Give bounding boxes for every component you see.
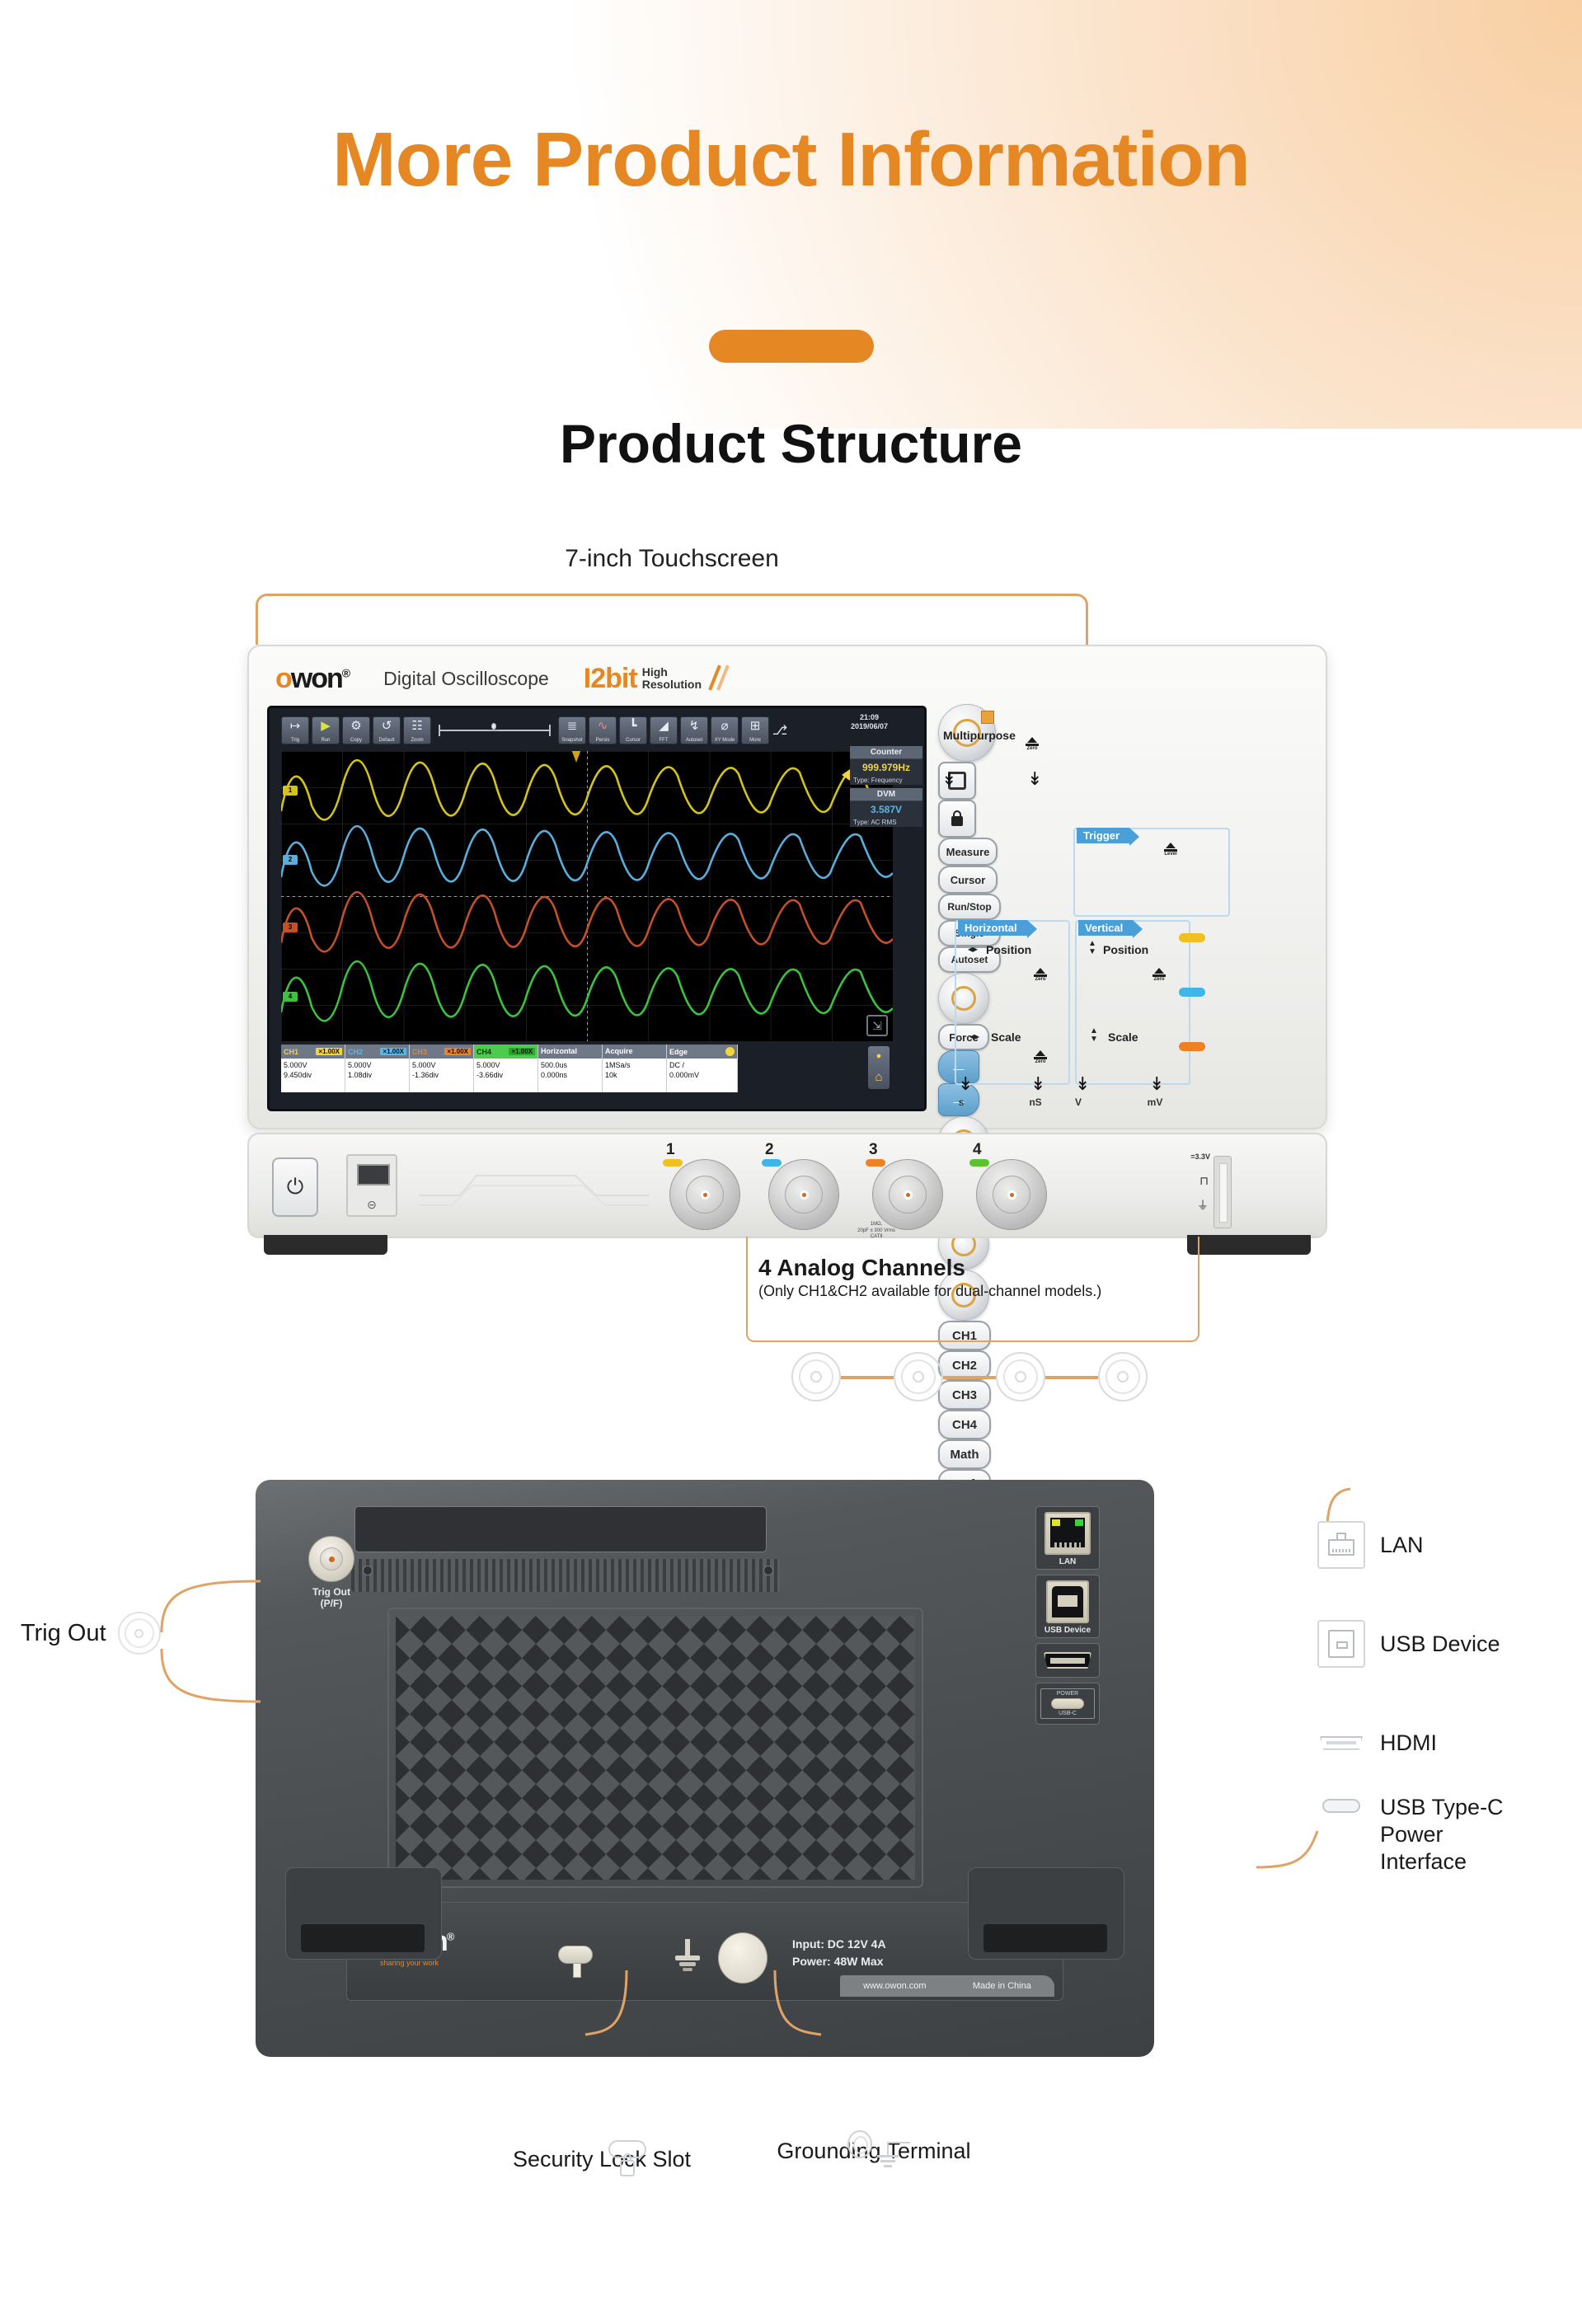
lock-button[interactable]: [938, 800, 976, 838]
square-wave-icon: ⊓: [1199, 1174, 1209, 1188]
bnc-outline-icon-2: [894, 1352, 943, 1401]
counter-caret-icon: [842, 769, 850, 781]
usb-host-port[interactable]: ⊝: [346, 1154, 397, 1217]
ch1-led: [1179, 933, 1205, 942]
usb-b-connector-graphic: [1046, 1580, 1089, 1623]
status-cell-header: CH1 ×1.00X: [281, 1045, 345, 1059]
lan-annotation-label: LAN: [1380, 1532, 1424, 1559]
vertical-position-label: Position: [1103, 943, 1148, 956]
hdmi-annotation: HDMI: [1317, 1719, 1437, 1767]
bnc-number-1: 1: [666, 1141, 675, 1159]
lan-annotation: LAN: [1317, 1521, 1424, 1569]
vertical-position-arrows-icon: ▲▼: [1088, 940, 1096, 956]
brand-bar: owon® Digital Oscilloscope I2bit HighRes…: [264, 656, 1314, 701]
ch2-led: [1179, 988, 1205, 997]
channel-marker-ch1[interactable]: 1: [283, 786, 298, 796]
decorative-trace-pattern: [411, 1154, 658, 1217]
toolbar-button-fft[interactable]: ◢ FFT: [650, 716, 678, 744]
toolbar-button-xy-mode[interactable]: ⌀ XY Mode: [711, 716, 739, 744]
accent-slash-icon: [707, 664, 731, 693]
h-scale-unit-right: nS: [1027, 1096, 1044, 1108]
compensation-slot: [1213, 1156, 1232, 1228]
bnc-icon-row: [791, 1352, 1146, 1410]
h-scale-unit-left: s: [955, 1096, 968, 1108]
cursor-icon: ┗: [620, 720, 646, 732]
status-cell-body: 5.000V -1.36div: [410, 1059, 473, 1082]
slider-cap-right: [549, 725, 551, 736]
bnc-led-2: [762, 1159, 782, 1167]
power-icon: ⏻: [287, 1174, 304, 1200]
slider-track: [439, 730, 550, 731]
multipurpose-right-arrow-icon: ↡: [1027, 770, 1042, 788]
resolution-note: HighResolution: [642, 666, 702, 690]
toolbar-button-persis[interactable]: ∿ Persis: [589, 716, 617, 744]
bnc-led-3: [866, 1159, 885, 1167]
rear-view: Trig Out(P/F) LAN USB Device: [256, 1480, 1154, 2106]
usb-c-frame: POWER USB-C: [1040, 1688, 1095, 1719]
horizontal-position-label: Position: [986, 943, 1031, 956]
bnc-connector-zone: 1 2 3 4 1MΩ, 20pF ± 300 Vrms CATⅡ: [661, 1141, 1238, 1233]
multipurpose-zero-icon: Zero: [1024, 737, 1040, 751]
dvm-value: 3.587V: [850, 801, 922, 818]
hdmi-annotation-label: HDMI: [1380, 1730, 1437, 1757]
status-cell-ch3[interactable]: CH3 ×1.00X 5.000V -1.36div: [410, 1045, 474, 1092]
status-cell-body: 5.000V -3.66div: [474, 1059, 538, 1082]
grounding-label: Grounding Terminal: [750, 2139, 998, 2164]
usb-port-slot: [357, 1164, 390, 1185]
page-title: More Product Information: [0, 115, 1582, 204]
trig-out-port-caption: Trig Out(P/F): [300, 1586, 363, 1610]
trig-icon: ↦: [282, 720, 308, 732]
counter-value: 999.979Hz: [850, 759, 922, 776]
analog-channels-title: 4 Analog Channels: [758, 1255, 1204, 1281]
touchscreen-callout-label: 7-inch Touchscreen: [552, 545, 792, 573]
usb-b-icon: [1317, 1620, 1365, 1668]
slider-knob[interactable]: [491, 723, 496, 730]
owon-logo: owon®: [275, 663, 349, 695]
ch4-button[interactable]: CH4: [938, 1410, 991, 1439]
cursor-button[interactable]: Cursor: [938, 866, 998, 894]
measurement-panel: Counter 999.979Hz Type: Frequency DVM 3.…: [850, 746, 922, 827]
h-scale-down-right-icon: ↡: [1030, 1075, 1045, 1093]
front-base-panel: ⏻ ⊝ 1 2 3: [247, 1133, 1327, 1238]
horizontal-scale-zero-icon: Zero: [1032, 1050, 1049, 1064]
waveform-grid[interactable]: 1 2 3 4 ⇲: [281, 751, 893, 1041]
slider-cap-left: [439, 725, 440, 736]
toolbar-button-snapshot[interactable]: ≣ Snapshot: [558, 716, 586, 744]
horizontal-section-label: Horizontal: [958, 920, 1027, 936]
toolbar-button-default[interactable]: ↺ Default: [373, 716, 401, 744]
rear-foot-right: [968, 1867, 1124, 1960]
math-button[interactable]: Math: [938, 1439, 991, 1469]
security-lock-label: Security Lock Slot: [495, 2147, 709, 2172]
oscilloscope-front-body: owon® Digital Oscilloscope I2bit HighRes…: [247, 645, 1327, 1129]
screen-status-bar: CH1 ×1.00X 5.000V 9.450div CH2 ×1.00X 5.…: [281, 1045, 893, 1092]
status-cell-body: 5.000V 9.450div: [281, 1059, 345, 1082]
v-scale-unit-left: V: [1072, 1096, 1085, 1108]
counter-header: Counter: [850, 746, 922, 759]
status-cell-ch1[interactable]: CH1 ×1.00X 5.000V 9.450div: [281, 1045, 345, 1092]
bnc-outline-icon-3: [996, 1352, 1045, 1401]
horizontal-scale-label: Scale: [991, 1031, 1021, 1044]
measure-button[interactable]: Measure: [938, 838, 998, 866]
trigger-status-dot: [725, 1047, 735, 1056]
grounding-leader-line: [717, 1970, 899, 2102]
bnc-outline-icon-4: [1098, 1352, 1148, 1401]
oscilloscope-rear-body: Trig Out(P/F) LAN USB Device: [256, 1480, 1154, 2057]
rear-port-column: LAN USB Device POWER USB-C: [1035, 1506, 1110, 1730]
vertical-scale-label: Scale: [1108, 1031, 1138, 1044]
rear-screw-left: [363, 1566, 373, 1575]
horizontal-position-arrows-icon: ◂▸: [968, 943, 978, 955]
status-cell-acquire[interactable]: Acquire 1MSa/s 10k: [603, 1045, 667, 1092]
multipurpose-left-arrow-icon: ↡: [941, 770, 956, 788]
status-cell-header: CH4 ×1.00X: [474, 1045, 538, 1059]
play-icon: ▶: [312, 720, 339, 732]
bit-badge: I2bit: [584, 663, 637, 695]
horizontal-scale-arrows-icon: ◂▸: [969, 1031, 979, 1042]
channel-marker-ch4[interactable]: 4: [283, 992, 298, 1002]
home-button[interactable]: ● ⌂: [868, 1046, 890, 1089]
toolbar-button-more[interactable]: ⊞ More: [741, 716, 769, 744]
bnc-led-4: [969, 1159, 989, 1167]
trig-out-bnc-connector[interactable]: [308, 1536, 354, 1582]
bnc-connector-1[interactable]: [669, 1159, 740, 1230]
rear-ventilation-mesh: [396, 1616, 915, 1880]
lan-connector-graphic: [1044, 1512, 1091, 1555]
bnc-outline-icon-1: [791, 1352, 841, 1401]
channel-marker-ch3[interactable]: 3: [283, 923, 298, 932]
toolbar-button-autoset[interactable]: ↯ Autoset: [680, 716, 708, 744]
origin-label: Made in China: [973, 1981, 1031, 1991]
compensation-voltage-label: =3.3V: [1190, 1153, 1210, 1161]
screen-toolbar: ↦ Trig ▶ Run ⚙ Copy ↺ Default ☷ Zoom: [281, 715, 893, 746]
lock-icon: [949, 810, 965, 828]
ground-icon: ⏚: [1197, 1197, 1209, 1214]
counter-type: Type: Frequency: [850, 776, 922, 785]
section-title: Product Structure: [0, 412, 1582, 475]
status-cell-ch2[interactable]: CH2 ×1.00X 5.000V 1.08div: [345, 1045, 410, 1092]
trigger-section-label: Trigger: [1077, 828, 1129, 843]
zoom-icon: ☷: [404, 720, 430, 732]
bnc-link-1: [841, 1376, 894, 1379]
lock-slot-leader-line: [511, 1970, 692, 2102]
divider-pill: [709, 330, 874, 363]
copy-icon: ⚙: [343, 720, 369, 732]
rear-bottom-plate: owon® sharing your work Input: DC 12V 4A…: [346, 1902, 1063, 2001]
persist-icon: ∿: [589, 720, 616, 732]
status-bar-right-area: ● ⌂: [738, 1045, 893, 1092]
waveform-ch4: [281, 942, 893, 1033]
product-subtitle: Digital Oscilloscope: [383, 668, 549, 690]
lan-icon: [1317, 1521, 1365, 1569]
usb-device-annotation-label: USB Device: [1380, 1631, 1500, 1658]
trig-out-port[interactable]: Trig Out(P/F): [300, 1536, 363, 1610]
power-rating-text: Input: DC 12V 4A Power: 48W Max: [792, 1936, 886, 1970]
grounding-annotation: Grounding Terminal: [750, 2127, 998, 2164]
status-cell-body: DC / 0.000mV: [667, 1059, 737, 1082]
bnc-link-3: [1045, 1376, 1098, 1379]
toolbar-button-trig[interactable]: ↦ Trig: [281, 716, 309, 744]
front-foot-right: [1187, 1235, 1311, 1255]
dvm-type: Type: AC RMS: [850, 818, 922, 827]
more-icon: ⊞: [742, 720, 768, 732]
security-lock-annotation: Security Lock Slot: [495, 2135, 709, 2172]
status-cell-edge[interactable]: Edge DC / 0.000mV: [667, 1045, 738, 1092]
toolbar-button-zoom[interactable]: ☷ Zoom: [403, 716, 431, 744]
usb-icon: ⊝: [367, 1198, 377, 1212]
front-view: 7-inch Touchscreen owon® Digital Oscillo…: [247, 627, 1327, 1245]
status-cell-header: CH2 ×1.00X: [345, 1045, 409, 1059]
status-cell-ch4[interactable]: CH4 ×1.00X 5.000V -3.66div: [474, 1045, 538, 1092]
fft-icon: ◢: [650, 720, 677, 732]
rear-foot-left: [285, 1867, 442, 1960]
compensation-output[interactable]: =3.3V ⊓ ⏚: [1176, 1153, 1233, 1232]
bnc-connector-4[interactable]: [976, 1159, 1047, 1230]
status-cell-body: 5.000V 1.08div: [345, 1059, 409, 1082]
clock-time: 21:09: [851, 713, 888, 722]
analog-channels-subtitle: (Only CH1&CH2 available for dual-channel…: [758, 1283, 1204, 1300]
usb-c-power-port[interactable]: POWER USB-C: [1035, 1683, 1100, 1725]
channel-marker-ch2[interactable]: 2: [283, 855, 298, 865]
hdmi-port[interactable]: [1035, 1643, 1100, 1678]
hdmi-connector-graphic: [1044, 1652, 1091, 1669]
rear-top-slot: [354, 1506, 767, 1552]
bnc-number-3: 3: [869, 1141, 878, 1159]
bnc-connector-2[interactable]: [768, 1159, 839, 1230]
owon-slogan: sharing your work: [380, 1959, 453, 1967]
multipurpose-led: [981, 711, 994, 724]
usb-c-type-label: USB-C: [1041, 1711, 1094, 1716]
expand-icon[interactable]: ⇲: [866, 1015, 888, 1036]
autoset-icon: ↯: [681, 720, 707, 732]
bnc-number-2: 2: [765, 1141, 774, 1159]
vertical-section-label: Vertical: [1078, 920, 1133, 936]
status-cell-body: 500.0us 0.000ns: [538, 1059, 602, 1082]
status-cell-horizontal[interactable]: Horizontal 500.0us 0.000ns: [538, 1045, 603, 1092]
bnc-led-1: [663, 1159, 683, 1167]
usb-c-annotation-label: USB Type-C Power Interface: [1380, 1794, 1504, 1876]
v-scale-unit-right: mV: [1144, 1096, 1166, 1108]
trigger-level-zero-icon: Level: [1162, 843, 1179, 857]
clock-date: 2019/06/07: [851, 722, 888, 731]
v-scale-down-right-icon: ↡: [1149, 1075, 1164, 1093]
snapshot-icon: ≣: [559, 720, 585, 732]
run-stop-button[interactable]: Run/Stop: [938, 894, 1001, 920]
usb-c-icon: [1317, 1794, 1365, 1817]
toolbar-button-cursor[interactable]: ┗ Cursor: [619, 716, 647, 744]
analog-channels-callout: 4 Analog Channels (Only CH1&CH2 availabl…: [758, 1255, 1204, 1300]
owon-registered-mark: ®: [342, 666, 349, 679]
front-control-panel: Multipurpose ↡ ↡ Zero Measure: [938, 704, 1314, 1110]
xy-mode-icon: ⌀: [711, 720, 738, 732]
bnc-link-2: [943, 1376, 996, 1379]
touchscreen-display[interactable]: ↦ Trig ▶ Run ⚙ Copy ↺ Default ☷ Zoom: [267, 706, 927, 1111]
dvm-header: DVM: [850, 788, 922, 801]
front-foot-left: [264, 1235, 387, 1255]
lan-port-caption: LAN: [1036, 1557, 1099, 1566]
usb-device-port[interactable]: USB Device: [1035, 1575, 1100, 1638]
ch3-led: [1179, 1042, 1205, 1051]
multipurpose-label: Multipurpose: [943, 729, 1016, 742]
v-scale-down-left-icon: ↡: [1075, 1075, 1090, 1093]
background-gradient: [0, 0, 1582, 429]
status-cell-body: 1MSa/s 10k: [603, 1059, 666, 1082]
trig-out-leader-line: [153, 1566, 285, 1723]
horizontal-position-zero-icon: Zero: [1032, 968, 1049, 982]
usb-device-port-caption: USB Device: [1036, 1626, 1099, 1635]
bell-icon: ●: [876, 1051, 882, 1061]
usb-c-power-label: POWER: [1041, 1691, 1094, 1697]
rear-vent-strip: [351, 1559, 780, 1592]
status-cell-header: CH3 ×1.00X: [410, 1045, 473, 1059]
usb-c-annotation: USB Type-C Power Interface: [1317, 1794, 1504, 1876]
bnc-number-4: 4: [973, 1141, 982, 1159]
usb-c-connector-graphic: [1051, 1698, 1084, 1709]
power-button[interactable]: ⏻: [272, 1157, 318, 1217]
home-icon: ⌂: [875, 1070, 882, 1084]
vertical-scale-arrows-icon: ▲▼: [1090, 1027, 1098, 1044]
trig-out-annotation-label: Trig Out: [21, 1620, 106, 1647]
usb-status-icon: ⎇: [772, 722, 788, 739]
usb-device-annotation: USB Device: [1317, 1620, 1500, 1668]
security-lock-slot[interactable]: [558, 1946, 593, 1964]
screen-clock: 21:09 2019/06/07: [851, 713, 888, 732]
h-scale-down-left-icon: ↡: [958, 1075, 973, 1093]
vertical-position-zero-icon: Zero: [1151, 968, 1167, 982]
trig-out-annotation: Trig Out: [21, 1612, 161, 1655]
toolbar-button-copy[interactable]: ⚙ Copy: [342, 716, 370, 744]
bnc-connector-3[interactable]: [872, 1159, 943, 1230]
lan-port[interactable]: LAN: [1035, 1506, 1100, 1570]
hdmi-icon: [1317, 1719, 1365, 1767]
touchscreen-callout-bracket: 7-inch Touchscreen: [256, 594, 1088, 645]
default-icon: ↺: [373, 720, 400, 732]
timebase-slider[interactable]: [434, 716, 556, 744]
rear-screw-right: [763, 1566, 773, 1575]
toolbar-button-run[interactable]: ▶ Run: [312, 716, 340, 744]
